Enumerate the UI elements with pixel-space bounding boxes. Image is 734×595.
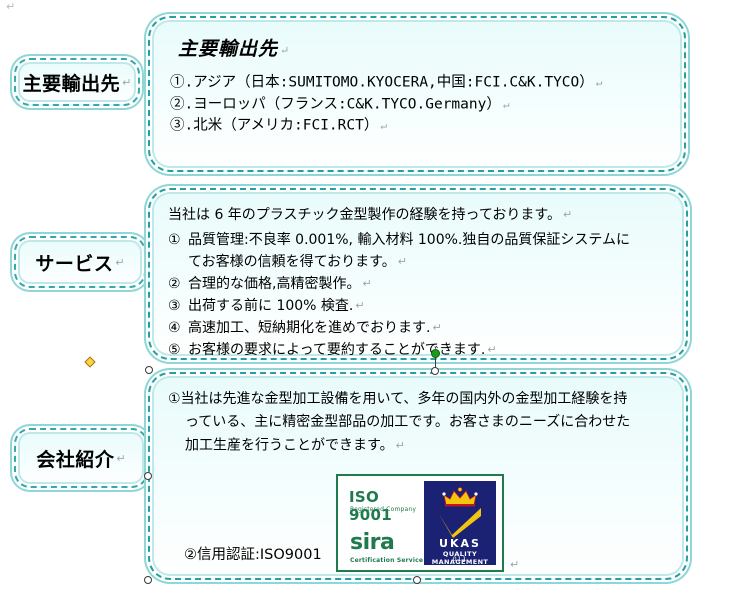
- list-item-number: ⑤: [168, 339, 188, 361]
- company-paragraph-line2: っている、主に精密金型部品の加工です。お客さまのニーズに合わせた: [168, 411, 670, 434]
- sira-subtitle-text: Certification Service: [350, 557, 423, 564]
- panel-body: ①当社は先進な金型加工設備を用いて、多年の国内外の金型加工経験を持 っている、主…: [166, 386, 672, 572]
- paragraph-mark-icon: ↵: [596, 76, 603, 89]
- label-chip-text: 主要輸出先: [23, 69, 121, 96]
- label-chip-text: 会社紹介: [36, 445, 114, 472]
- iso-ukas-certificate-image: ISO 9001 Registered Company sira Certifi…: [336, 474, 504, 572]
- paragraph-mark-icon: ↵: [362, 277, 371, 290]
- list-item-number: ②: [168, 273, 188, 295]
- paragraph-mark-icon: ↵: [563, 208, 572, 221]
- sira-logo-text: sira: [350, 532, 394, 554]
- list-item: ① 品質管理:不良率 0.001%, 輸入材料 100%.独自の品質保証システム…: [168, 229, 672, 251]
- paragraph-mark-icon: ↵: [116, 452, 125, 465]
- company-paragraph-line3: 加工生産を行うことができます。↵: [168, 434, 670, 458]
- shape-resize-handle-bottom-center[interactable]: [413, 576, 421, 584]
- label-chip-company-profile[interactable]: 会社紹介↵: [14, 428, 148, 488]
- iso-subtitle-text: Registered Company: [350, 506, 416, 513]
- certificate-left-panel: ISO 9001 Registered Company sira Certifi…: [338, 476, 424, 570]
- list-item: ①.アジア（日本:SUMITOMO.KYOCERA,中国:FCI.C&K.TYC…: [170, 72, 670, 94]
- label-chip-text: サービス: [35, 249, 113, 276]
- list-item-text: 高速加工、短納期化を進めでおります.↵: [188, 317, 672, 339]
- company-paragraph-line1: ①当社は先進な金型加工設備を用いて、多年の国内外の金型加工経験を持: [168, 391, 627, 407]
- company-paragraph: ①当社は先進な金型加工設備を用いて、多年の国内外の金型加工経験を持 っている、主…: [168, 388, 670, 458]
- paragraph-mark-icon: ↵: [398, 255, 407, 268]
- paragraph-mark-icon: ↵: [280, 44, 290, 57]
- list-item: ④ 高速加工、短納期化を進めでおります.↵: [168, 317, 672, 339]
- crown-icon: [440, 487, 480, 507]
- paragraph-mark-icon: ↵: [355, 299, 364, 312]
- label-chip-service[interactable]: サービス↵: [14, 236, 146, 288]
- list-item-number: ③: [168, 295, 188, 317]
- list-item-text: 出荷する前に 100% 検査.↵: [188, 295, 672, 317]
- list-item: ②.ヨーロッパ（フランス:C&K.TYCO.Germany）↵: [170, 94, 670, 116]
- list-item: ③ 出荷する前に 100% 検査.↵: [168, 295, 672, 317]
- panel-service[interactable]: 当社は 6 年のプラスチック金型製作の経験を持っております。↵ ① 品質管理:不…: [148, 188, 688, 360]
- list-item-text: てお客様の信頼を得ております。↵: [188, 251, 672, 273]
- label-chip-main-export-destinations[interactable]: 主要輸出先↵: [14, 58, 140, 106]
- paragraph-mark-icon: ↵: [115, 256, 124, 269]
- panel-heading: 主要輸出先↵: [178, 34, 670, 61]
- list-item-text: 合理的な価格,高精密製作。↵: [188, 273, 672, 295]
- paragraph-mark-icon: ↵: [503, 98, 510, 111]
- shape-rotate-handle[interactable]: [431, 349, 440, 358]
- panel-body: 主要輸出先↵ ①.アジア（日本:SUMITOMO.KYOCERA,中国:FCI.…: [166, 30, 670, 164]
- ukas-name-text: UKAS: [424, 537, 496, 550]
- list-item-number: ①: [168, 229, 188, 251]
- ukas-accreditation-number: 011: [424, 556, 496, 563]
- list-item-number: ④: [168, 317, 188, 339]
- checkmark-icon: [436, 508, 484, 538]
- document-paragraph-mark: ↵: [6, 1, 15, 12]
- list-item-continuation: てお客様の信頼を得ております。↵: [168, 251, 672, 273]
- paragraph-mark-icon: ↵: [380, 119, 387, 132]
- shape-resize-handle-bottom[interactable]: [431, 367, 439, 375]
- panel-company-profile[interactable]: ①当社は先進な金型加工設備を用いて、多年の国内外の金型加工経験を持 っている、主…: [148, 372, 688, 580]
- list-item: ⑤ お客様の要求によって要約することができます.↵: [168, 339, 672, 361]
- list-item: ② 合理的な価格,高精密製作。↵: [168, 273, 672, 295]
- list-item: ③.北米（アメリカ:FCI.RCT）↵: [170, 115, 670, 137]
- list-item-text: 品質管理:不良率 0.001%, 輸入材料 100%.独自の品質保証システムに: [188, 229, 672, 251]
- service-intro-text: 当社は 6 年のプラスチック金型製作の経験を持っております。↵: [168, 204, 672, 226]
- paragraph-mark-icon: ↵: [396, 439, 405, 452]
- company-certification-label: ②信用認証:ISO9001: [184, 543, 322, 564]
- panel-main-export-destinations[interactable]: 主要輸出先↵ ①.アジア（日本:SUMITOMO.KYOCERA,中国:FCI.…: [148, 16, 686, 172]
- shape-resize-handle-bottom-left[interactable]: [144, 576, 152, 584]
- paragraph-mark-icon: ↵: [510, 558, 519, 571]
- paragraph-mark-icon: ↵: [122, 76, 131, 89]
- paragraph-mark-icon: ↵: [487, 343, 496, 356]
- shape-adjust-handle[interactable]: [84, 356, 95, 367]
- shape-resize-handle-bottom-left[interactable]: [145, 366, 153, 374]
- ukas-badge: UKAS QUALITYMANAGEMENT 011: [424, 481, 496, 565]
- panel-body: 当社は 6 年のプラスチック金型製作の経験を持っております。↵ ① 品質管理:不…: [166, 202, 672, 352]
- shape-resize-handle-middle-left[interactable]: [144, 472, 152, 480]
- paragraph-mark-icon: ↵: [432, 321, 441, 334]
- list-item-text: お客様の要求によって要約することができます.↵: [188, 339, 672, 361]
